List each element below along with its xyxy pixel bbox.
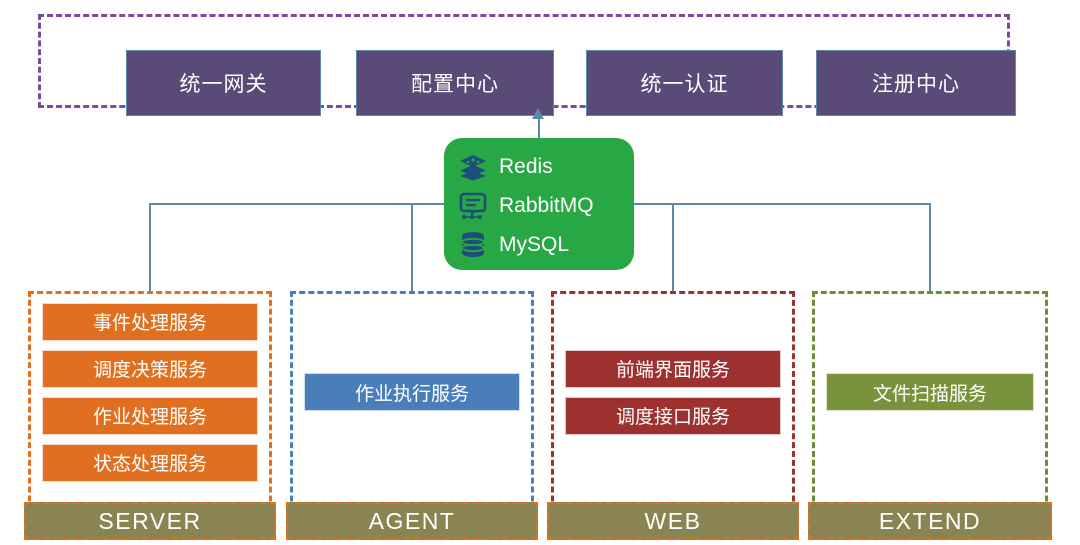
- middleware-label-rabbitmq: RabbitMQ: [499, 194, 594, 218]
- module-agent: 作业执行服务 AGENT: [290, 291, 534, 537]
- middleware-label-mysql: MySQL: [499, 233, 569, 257]
- service-label: 作业执行服务: [355, 379, 469, 406]
- module-label-text: WEB: [645, 508, 702, 535]
- arrow-up-icon: [532, 108, 544, 119]
- service-label: 事件处理服务: [93, 308, 207, 335]
- service-label: 状态处理服务: [93, 449, 207, 476]
- service-label: 文件扫描服务: [873, 379, 987, 406]
- middleware-row-mysql: MySQL: [456, 226, 634, 264]
- platform-layer-frame: 统一网关 配置中心 统一认证 注册中心: [38, 14, 1010, 108]
- platform-box-config-center[interactable]: 配置中心: [356, 50, 554, 116]
- connector-drop-server: [149, 203, 151, 293]
- middleware-row-redis: Redis: [456, 148, 634, 186]
- module-extend: 文件扫描服务 EXTEND: [812, 291, 1048, 537]
- database-cylinder-icon: [456, 229, 490, 261]
- module-label-agent: AGENT: [286, 502, 538, 540]
- service-label: 调度决策服务: [93, 355, 207, 382]
- service-box-scheduling-decision[interactable]: 调度决策服务: [42, 350, 258, 388]
- service-box-frontend-ui[interactable]: 前端界面服务: [565, 350, 781, 388]
- message-queue-icon: [456, 190, 490, 222]
- middleware-label-redis: Redis: [499, 155, 553, 179]
- module-web-services: 前端界面服务 调度接口服务: [551, 291, 795, 493]
- module-label-web: WEB: [547, 502, 799, 540]
- platform-box-auth[interactable]: 统一认证: [586, 50, 783, 116]
- service-label: 前端界面服务: [616, 355, 730, 382]
- service-box-event-processing[interactable]: 事件处理服务: [42, 303, 258, 341]
- platform-box-registry[interactable]: 注册中心: [816, 50, 1016, 116]
- module-extend-services: 文件扫描服务: [812, 291, 1048, 493]
- platform-box-label: 统一网关: [180, 68, 268, 98]
- service-box-job-execution[interactable]: 作业执行服务: [304, 373, 520, 411]
- connector-bus-left: [149, 203, 444, 205]
- module-label-text: EXTEND: [879, 508, 981, 535]
- service-box-file-scan[interactable]: 文件扫描服务: [826, 373, 1034, 411]
- module-label-server: SERVER: [24, 502, 276, 540]
- platform-box-label: 配置中心: [411, 68, 499, 98]
- middleware-stack-box[interactable]: Redis RabbitMQ: [444, 138, 634, 270]
- module-web: 前端界面服务 调度接口服务 WEB: [551, 291, 795, 537]
- layers-stack-icon: [456, 151, 490, 183]
- platform-box-label: 注册中心: [872, 68, 960, 98]
- module-server-services: 事件处理服务 调度决策服务 作业处理服务 状态处理服务: [28, 291, 272, 493]
- module-agent-services: 作业执行服务: [290, 291, 534, 493]
- module-label-text: SERVER: [98, 508, 201, 535]
- service-label: 调度接口服务: [616, 402, 730, 429]
- platform-box-label: 统一认证: [641, 68, 729, 98]
- service-box-job-processing[interactable]: 作业处理服务: [42, 397, 258, 435]
- connector-bus-right: [634, 203, 930, 205]
- service-box-scheduling-api[interactable]: 调度接口服务: [565, 397, 781, 435]
- service-box-status-processing[interactable]: 状态处理服务: [42, 444, 258, 482]
- module-server: 事件处理服务 调度决策服务 作业处理服务 状态处理服务 SERVER: [28, 291, 272, 537]
- middleware-row-rabbitmq: RabbitMQ: [456, 187, 634, 225]
- service-label: 作业处理服务: [93, 402, 207, 429]
- module-label-extend: EXTEND: [808, 502, 1052, 540]
- architecture-diagram-canvas: 统一网关 配置中心 统一认证 注册中心: [0, 0, 1080, 545]
- module-label-text: AGENT: [369, 508, 456, 535]
- platform-box-gateway[interactable]: 统一网关: [126, 50, 321, 116]
- connector-drop-agent: [411, 203, 413, 293]
- connector-drop-extend: [929, 203, 931, 293]
- connector-drop-web: [672, 203, 674, 293]
- connector-middleware-to-platform: [538, 118, 540, 140]
